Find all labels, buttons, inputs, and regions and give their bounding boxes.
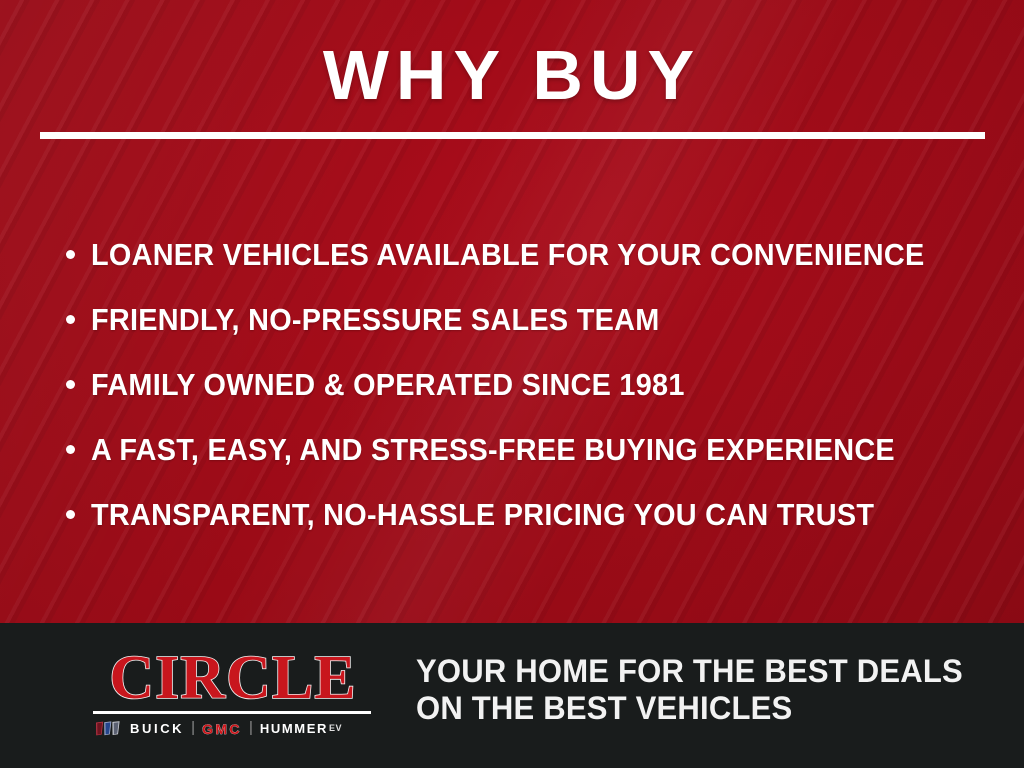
benefits-list: LOANER VEHICLES AVAILABLE FOR YOUR CONVE… xyxy=(62,222,992,547)
brand-separator: | xyxy=(249,720,253,735)
bullet-dot-icon xyxy=(66,380,75,389)
bullet-dot-icon xyxy=(66,250,75,259)
brand-label-hummer-ev-suffix: EV xyxy=(329,724,342,733)
brand-label-gmc: GMC xyxy=(202,722,242,736)
list-item: TRANSPARENT, NO-HASSLE PRICING YOU CAN T… xyxy=(62,482,992,547)
brand-label-hummer: HUMMER xyxy=(260,722,328,735)
buick-tri-shield-icon xyxy=(95,721,121,736)
page-title: WHY BUY xyxy=(0,40,1024,110)
footer-tagline-line-2: ON THE BEST VEHICLES xyxy=(416,690,963,727)
bullet-dot-icon xyxy=(66,510,75,519)
list-item: FAMILY OWNED & OPERATED SINCE 1981 xyxy=(62,352,992,417)
footer-bar: CIRCLE xyxy=(0,623,1024,768)
dealership-logo: CIRCLE xyxy=(93,649,373,737)
brand-strip: BUICK | GMC | HUMMER EV xyxy=(93,721,373,737)
list-item-label: TRANSPARENT, NO-HASSLE PRICING YOU CAN T… xyxy=(91,499,874,530)
footer-tagline: YOUR HOME FOR THE BEST DEALS ON THE BEST… xyxy=(416,653,963,727)
logo-wordmark: CIRCLE xyxy=(93,649,373,708)
title-divider-rule xyxy=(40,132,985,139)
list-item-label: FRIENDLY, NO-PRESSURE SALES TEAM xyxy=(91,304,660,335)
bullet-dot-icon xyxy=(66,315,75,324)
list-item: A FAST, EASY, AND STRESS-FREE BUYING EXP… xyxy=(62,417,992,482)
list-item-label: LOANER VEHICLES AVAILABLE FOR YOUR CONVE… xyxy=(91,239,924,270)
footer-tagline-line-1: YOUR HOME FOR THE BEST DEALS xyxy=(416,653,963,690)
list-item-label: FAMILY OWNED & OPERATED SINCE 1981 xyxy=(91,369,685,400)
why-buy-slide: WHY BUY LOANER VEHICLES AVAILABLE FOR YO… xyxy=(0,0,1024,768)
brand-separator: | xyxy=(191,720,195,735)
list-item: LOANER VEHICLES AVAILABLE FOR YOUR CONVE… xyxy=(62,222,992,287)
brand-label-buick: BUICK xyxy=(130,722,184,735)
bullet-dot-icon xyxy=(66,445,75,454)
list-item: FRIENDLY, NO-PRESSURE SALES TEAM xyxy=(62,287,992,352)
list-item-label: A FAST, EASY, AND STRESS-FREE BUYING EXP… xyxy=(91,434,895,465)
